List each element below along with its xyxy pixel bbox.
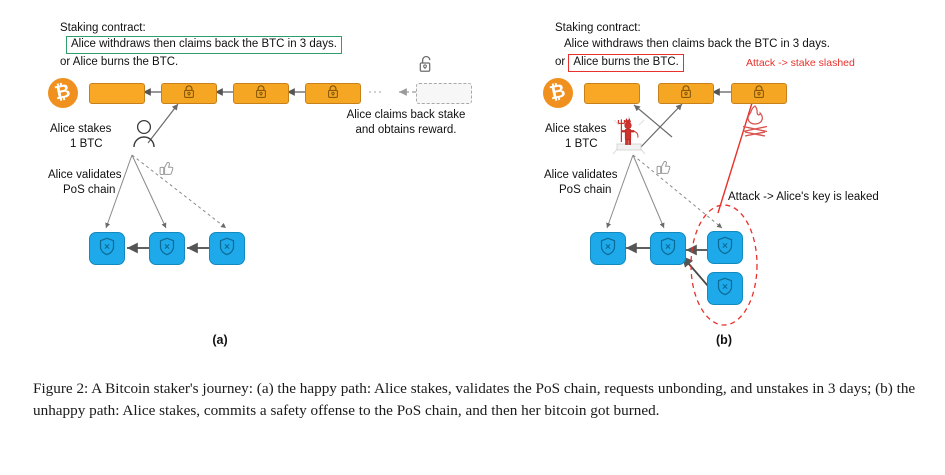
panel-a-stake-label-1: Alice stakes — [50, 122, 111, 137]
figure-caption: Figure 2: A Bitcoin staker's journey: (a… — [33, 378, 918, 422]
panel-a-validate-label-1: Alice validates — [48, 168, 122, 183]
panel-b-slash-note: Attack -> stake slashed — [746, 56, 855, 71]
btc-block-stake — [658, 83, 714, 104]
panel-b-unhappy-path: Staking contract: Alice withdraws then c… — [500, 0, 945, 365]
closed-padlock-icon — [680, 84, 693, 103]
btc-block-stake — [161, 83, 217, 104]
pos-block-3 — [209, 232, 245, 265]
or-prefix: or — [555, 56, 568, 68]
closed-padlock-icon — [327, 84, 340, 103]
panel-b-leak-note: Attack -> Alice's key is leaked — [728, 190, 879, 205]
btc-block-burn — [731, 83, 787, 104]
contract-clause-box: Alice withdraws then claims back the BTC… — [66, 36, 342, 54]
btc-block-genesis — [584, 83, 640, 104]
shield-check-icon — [717, 277, 734, 301]
closed-padlock-icon — [255, 84, 268, 103]
panel-b-validate-label-2: PoS chain — [559, 183, 611, 198]
panel-a-contract-clause-withdraw: Alice withdraws then claims back the BTC… — [66, 36, 342, 54]
shield-check-icon — [219, 237, 236, 261]
open-padlock-icon — [418, 55, 435, 79]
panel-b-contract-clause-withdraw: Alice withdraws then claims back the BTC… — [564, 37, 830, 52]
bitcoin-logo-icon: ₿ — [543, 78, 573, 108]
pos-block-3b — [707, 272, 743, 305]
contract-clause-burn-text: Alice burns the BTC. — [73, 56, 178, 68]
pos-block-1 — [590, 232, 626, 265]
panel-a-label: (a) — [190, 333, 250, 347]
closed-padlock-icon — [183, 84, 196, 103]
panel-a-validate-label-2: PoS chain — [63, 183, 115, 198]
shield-check-icon — [717, 236, 734, 260]
panel-b-contract-clause-burn: or Alice burns the BTC. — [555, 54, 684, 72]
panel-a-happy-path: Staking contract: Alice withdraws then c… — [0, 0, 500, 365]
panel-b-contract-title: Staking contract: — [555, 21, 641, 36]
btc-block-unbonding-ghost — [416, 83, 472, 104]
shield-check-icon — [600, 237, 617, 261]
closed-padlock-icon — [753, 84, 766, 103]
contract-clause-burn-box: Alice burns the BTC. — [568, 54, 683, 72]
pos-block-2 — [149, 232, 185, 265]
pos-block-2 — [650, 232, 686, 265]
btc-block-mid — [233, 83, 289, 104]
figure-2-container: Staking contract: Alice withdraws then c… — [0, 0, 945, 475]
shield-check-icon — [99, 237, 116, 261]
panel-a-contract-title: Staking contract: — [60, 21, 146, 36]
shield-check-icon — [660, 237, 677, 261]
panel-a-claim-note-2: and obtains reward. — [330, 123, 482, 138]
pos-block-3a — [707, 231, 743, 264]
thumbs-up-icon — [656, 160, 671, 181]
campfire-icon — [740, 104, 770, 143]
panel-b-label: (b) — [694, 333, 754, 347]
shield-check-icon — [159, 237, 176, 261]
panel-a-contract-clause-burn: or Alice burns the BTC. — [60, 55, 178, 70]
btc-block-genesis — [89, 83, 145, 104]
or-prefix: or — [60, 56, 73, 68]
panel-b-stake-label-2: 1 BTC — [565, 137, 598, 152]
panel-a-claim-note-1: Alice claims back stake — [330, 108, 482, 123]
pos-block-1 — [89, 232, 125, 265]
devil-figure-icon — [608, 114, 650, 163]
panel-b-validate-label-1: Alice validates — [544, 168, 618, 183]
panel-b-stake-label-1: Alice stakes — [545, 122, 606, 137]
thumbs-up-icon — [159, 161, 174, 182]
bitcoin-logo-icon: ₿ — [48, 78, 78, 108]
btc-block-last-locked — [305, 83, 361, 104]
panel-a-stake-label-2: 1 BTC — [70, 137, 103, 152]
stick-figure-icon — [128, 119, 160, 156]
